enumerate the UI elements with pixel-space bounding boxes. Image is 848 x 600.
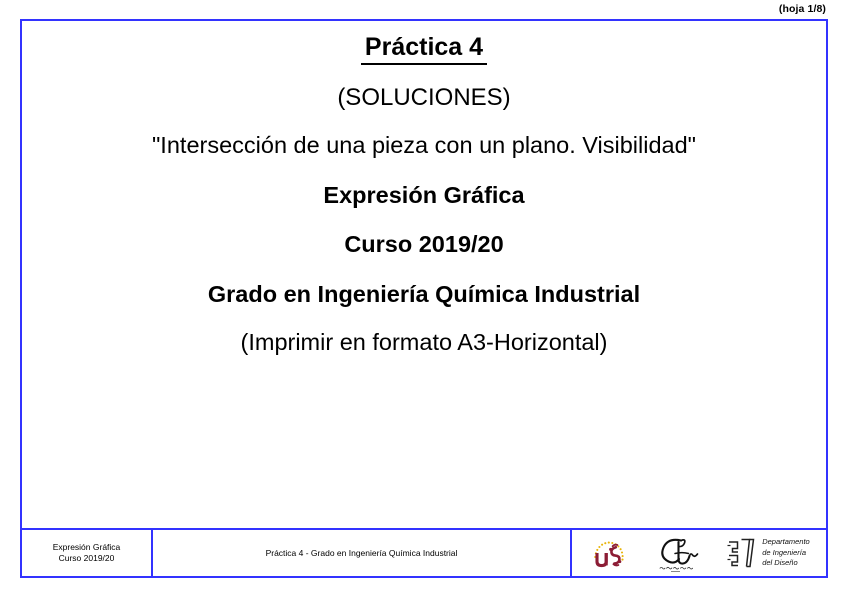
ca-monogram-icon [651, 532, 705, 574]
cartouche-subject-line: Expresión Gráfica [53, 542, 121, 553]
dept-logo-text: Departamento de Ingeniería del Diseño [762, 537, 810, 570]
cartouche-description-text: Práctica 4 - Grado en Ingeniería Química… [266, 548, 458, 558]
sheet-number-label: (hoja 1/8) [779, 1, 826, 17]
subtitle-solutions: (SOLUCIONES) [22, 86, 826, 110]
page-title: Práctica 4 [22, 35, 826, 65]
universidad-de-sevilla-seal-icon [588, 533, 630, 573]
drawing-frame: Práctica 4 (SOLUCIONES) "Intersección de… [20, 19, 828, 578]
dept-logo-line2: de Ingeniería [762, 548, 810, 559]
academic-year: Curso 2019/20 [22, 233, 826, 257]
cartouche-description-cell: Práctica 4 - Grado en Ingeniería Química… [153, 530, 572, 576]
dept-mark-icon [725, 535, 757, 571]
dept-logo-line3: del Diseño [762, 558, 810, 569]
subject-name: Expresión Gráfica [22, 184, 826, 208]
print-instruction: (Imprimir en formato A3-Horizontal) [22, 331, 826, 355]
departamento-ingenieria-diseno-logo: Departamento de Ingeniería del Diseño [725, 535, 810, 571]
cartouche: Expresión Gráfica Curso 2019/20 Práctica… [22, 528, 826, 576]
cartouche-year-line: Curso 2019/20 [53, 553, 121, 564]
page-title-text: Práctica 4 [361, 35, 487, 65]
dept-logo-line1: Departamento [762, 537, 810, 548]
exercise-topic: "Intersección de una pieza con un plano.… [22, 134, 826, 158]
title-block: Práctica 4 (SOLUCIONES) "Intersección de… [22, 29, 826, 355]
cartouche-course-cell: Expresión Gráfica Curso 2019/20 [22, 530, 153, 576]
cartouche-logos-cell: Departamento de Ingeniería del Diseño [572, 530, 826, 576]
degree-name: Grado en Ingeniería Química Industrial [22, 283, 826, 307]
